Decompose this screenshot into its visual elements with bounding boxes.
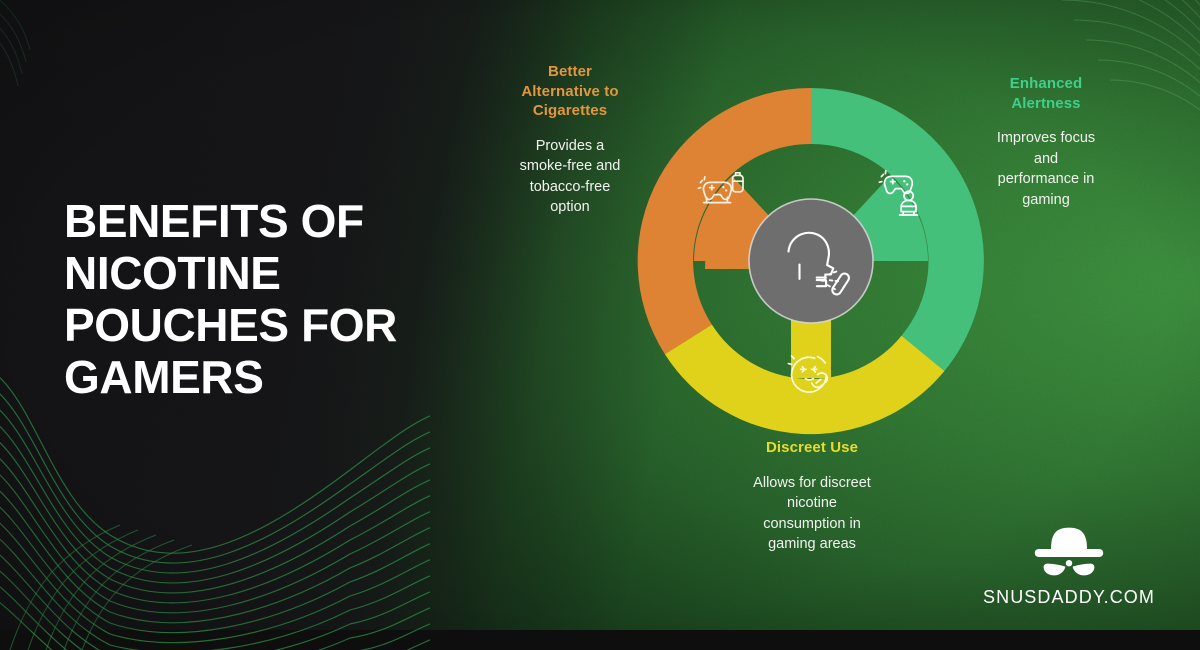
callout-body-enhanced-alertness: Improves focus and performance in gaming: [962, 128, 1130, 210]
callout-title-better-alternative: Better Alternative to Cigarettes: [492, 62, 648, 121]
callout-body-better-alternative: Provides a smoke-free and tobacco-free o…: [492, 136, 648, 218]
page-title: Benefits of Nicotine Pouches for Gamers: [64, 196, 484, 404]
callout-title-enhanced-alertness: Enhanced Alertness: [962, 74, 1130, 113]
logo-text: SNUSDADDY.COM: [974, 587, 1164, 608]
bowler-hat-and-mustache-icon: [1021, 523, 1117, 581]
benefits-donut-diagram: [636, 86, 986, 436]
callout-better-alternative: Better Alternative to Cigarettes Provide…: [492, 62, 648, 218]
callout-title-discreet-use: Discreet Use: [700, 438, 924, 458]
callout-discreet-use: Discreet Use Allows for discreet nicotin…: [700, 438, 924, 555]
callout-enhanced-alertness: Enhanced Alertness Improves focus and pe…: [962, 74, 1130, 210]
site-logo[interactable]: SNUSDADDY.COM: [974, 523, 1164, 608]
callout-body-discreet-use: Allows for discreet nicotine consumption…: [700, 473, 924, 555]
